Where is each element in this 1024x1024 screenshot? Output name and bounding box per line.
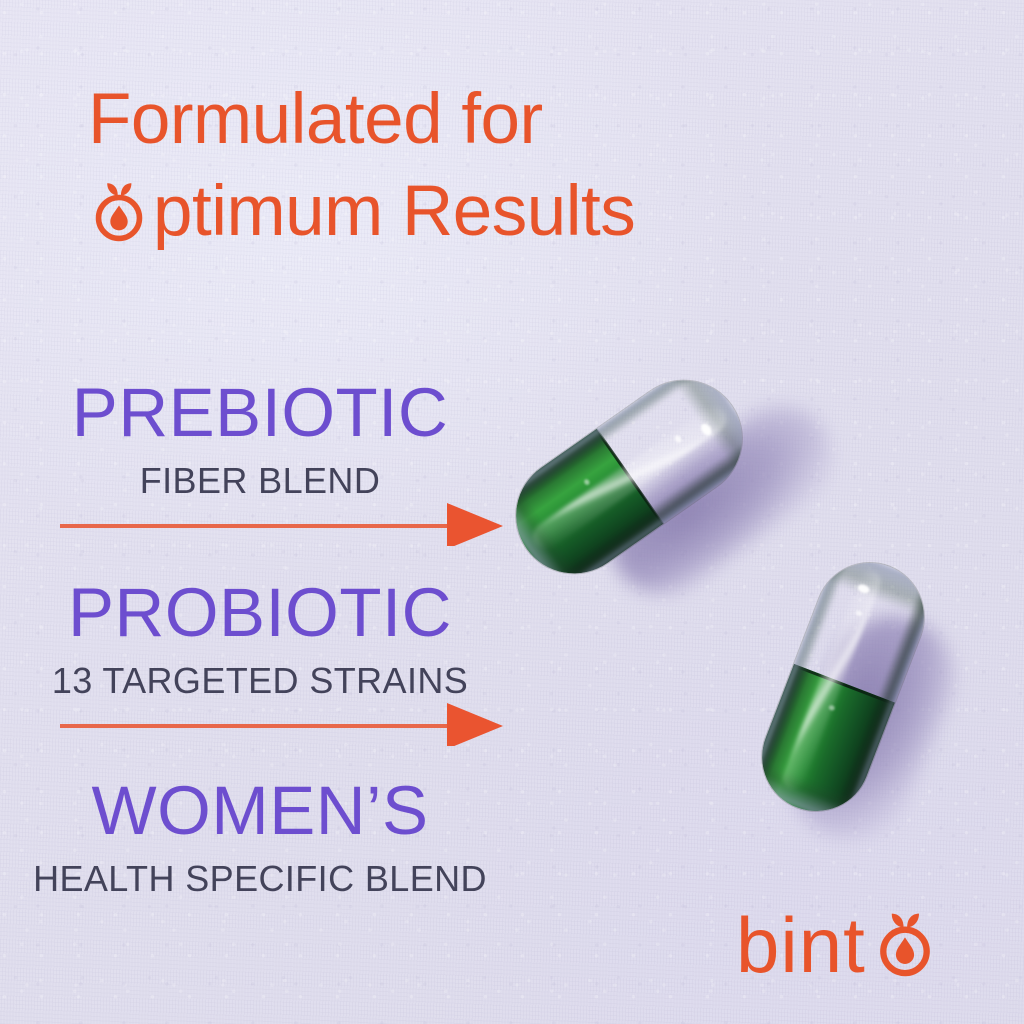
brand-wordmark: bint bbox=[736, 914, 866, 978]
feature-probiotic-subtitle: 13 TARGETED STRAINS bbox=[0, 663, 520, 699]
feature-womens-title: WOMEN’S bbox=[0, 776, 520, 845]
promo-graphic: Formulated for ptimum Results PREBIOTIC … bbox=[0, 0, 1024, 1024]
feature-probiotic-title: PROBIOTIC bbox=[0, 578, 520, 647]
feature-prebiotic-title: PREBIOTIC bbox=[0, 378, 520, 447]
headline-line-2: ptimum Results bbox=[88, 166, 808, 258]
brand-logo[interactable]: bint bbox=[736, 908, 940, 978]
feature-womens: WOMEN’S HEALTH SPECIFIC BLEND bbox=[0, 776, 520, 897]
right-arrow-icon-2 bbox=[60, 700, 503, 746]
headline-line-1: Formulated for bbox=[88, 74, 808, 166]
right-arrow-icon-1 bbox=[60, 500, 503, 546]
headline: Formulated for ptimum Results bbox=[88, 74, 808, 259]
feature-probiotic: PROBIOTIC 13 TARGETED STRAINS bbox=[0, 578, 520, 699]
binto-seed-o-icon bbox=[88, 175, 150, 237]
binto-seed-o-icon bbox=[870, 908, 940, 978]
capsule-lower bbox=[755, 540, 1024, 850]
headline-line-2-text: ptimum Results bbox=[153, 166, 635, 258]
feature-prebiotic: PREBIOTIC FIBER BLEND bbox=[0, 378, 520, 499]
feature-womens-subtitle: HEALTH SPECIFIC BLEND bbox=[0, 861, 520, 897]
feature-prebiotic-subtitle: FIBER BLEND bbox=[0, 463, 520, 499]
